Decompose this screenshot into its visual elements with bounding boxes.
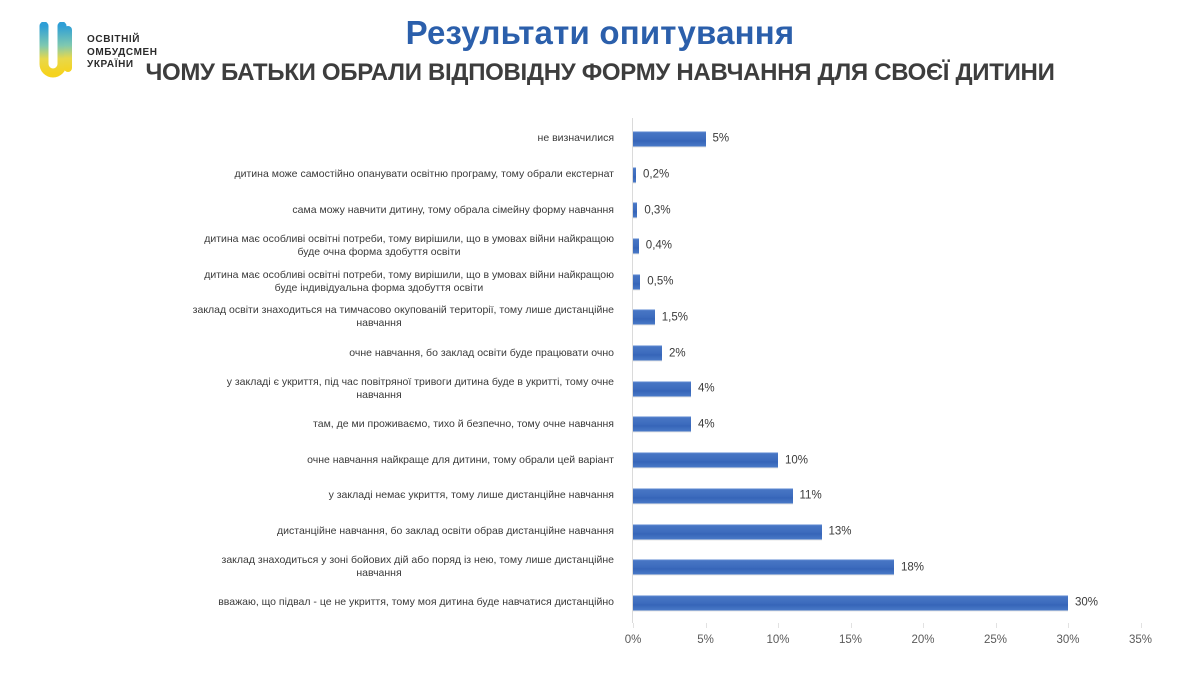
bar[interactable] — [633, 595, 1068, 610]
bar-group[interactable]: 18% — [633, 560, 924, 575]
bar[interactable] — [633, 381, 691, 396]
chart-row: сама можу навчити дитину, тому обрала сі… — [0, 192, 1200, 228]
x-tick-mark — [633, 623, 634, 628]
category-label: там, де ми проживаємо, тихо й безпечно, … — [144, 418, 614, 431]
bar-value-label: 1,5% — [662, 311, 688, 323]
bar-group[interactable]: 0,3% — [633, 203, 671, 218]
plot-area: не визначилися5%дитина може самостійно о… — [0, 118, 1200, 623]
bar[interactable] — [633, 453, 778, 468]
category-label-line: у закладі є укриття, під час повітряної … — [144, 376, 614, 389]
title-block: Результати опитування ЧОМУ БАТЬКИ ОБРАЛИ… — [0, 0, 1200, 85]
category-label: дитина може самостійно опанувати освітню… — [144, 168, 614, 181]
x-tick-label: 0% — [625, 634, 642, 646]
category-label: сама можу навчити дитину, тому обрала сі… — [144, 204, 614, 217]
bar-group[interactable]: 1,5% — [633, 310, 688, 325]
x-tick-mark — [706, 623, 707, 628]
bar-value-label: 10% — [785, 454, 808, 466]
chart-row: дитина може самостійно опанувати освітню… — [0, 157, 1200, 193]
category-label: не визначилися — [144, 132, 614, 145]
chart-row: дитина має особливі освітні потреби, том… — [0, 228, 1200, 264]
chart-row: очне навчання, бо заклад освіти буде пра… — [0, 335, 1200, 371]
bar-group[interactable]: 30% — [633, 595, 1098, 610]
x-tick-label: 10% — [766, 634, 789, 646]
bar-value-label: 4% — [698, 383, 715, 395]
chart-row: у закладі є укриття, під час повітряної … — [0, 371, 1200, 407]
category-label-line: заклад освіти знаходиться на тимчасово о… — [144, 304, 614, 317]
bar[interactable] — [633, 274, 640, 289]
page-title: Результати опитування — [0, 16, 1200, 51]
chart-row: там, де ми проживаємо, тихо й безпечно, … — [0, 407, 1200, 443]
category-label-line: заклад знаходиться у зоні бойових дій аб… — [144, 554, 614, 567]
bar[interactable] — [633, 417, 691, 432]
category-label-line: буде індивідуальна форма здобуття освіти — [144, 282, 614, 295]
x-tick-label: 35% — [1129, 634, 1152, 646]
bar-group[interactable]: 13% — [633, 524, 852, 539]
category-label: заклад освіти знаходиться на тимчасово о… — [144, 304, 614, 330]
category-label: очне навчання, бо заклад освіти буде пра… — [144, 347, 614, 360]
category-label: вважаю, що підвал - це не укриття, тому … — [144, 596, 614, 609]
x-tick-mark — [923, 623, 924, 628]
bar-value-label: 0,5% — [647, 276, 673, 288]
category-label: заклад знаходиться у зоні бойових дій аб… — [144, 554, 614, 580]
category-label: дистанційне навчання, бо заклад освіти о… — [144, 525, 614, 538]
x-tick-label: 30% — [1056, 634, 1079, 646]
bar[interactable] — [633, 203, 637, 218]
bar[interactable] — [633, 238, 639, 253]
bar-value-label: 11% — [800, 490, 822, 502]
bar-value-label: 0,4% — [646, 240, 672, 252]
bar[interactable] — [633, 488, 793, 503]
x-tick-mark — [778, 623, 779, 628]
chart-row: заклад освіти знаходиться на тимчасово о… — [0, 300, 1200, 336]
chart-row: очне навчання найкраще для дитини, тому … — [0, 442, 1200, 478]
bar-value-label: 0,2% — [643, 169, 669, 181]
bar-group[interactable]: 0,4% — [633, 238, 672, 253]
bar[interactable] — [633, 346, 662, 361]
bar-group[interactable]: 10% — [633, 453, 808, 468]
bar[interactable] — [633, 310, 655, 325]
category-label-line: навчання — [144, 317, 614, 330]
bar-value-label: 5% — [713, 133, 730, 145]
chart-row: дитина має особливі освітні потреби, том… — [0, 264, 1200, 300]
category-label: дитина має особливі освітні потреби, том… — [144, 233, 614, 259]
bar-value-label: 2% — [669, 347, 686, 359]
x-tick-label: 20% — [911, 634, 934, 646]
bar-chart: не визначилися5%дитина може самостійно о… — [0, 118, 1200, 658]
chart-row: вважаю, що підвал - це не укриття, тому … — [0, 585, 1200, 621]
x-tick-label: 25% — [984, 634, 1007, 646]
chart-row: заклад знаходиться у зоні бойових дій аб… — [0, 549, 1200, 585]
chart-row: у закладі немає укриття, тому лише диста… — [0, 478, 1200, 514]
category-label-line: буде очна форма здобуття освіти — [144, 246, 614, 259]
bar-group[interactable]: 5% — [633, 131, 729, 146]
x-tick-mark — [996, 623, 997, 628]
bar-group[interactable]: 0,5% — [633, 274, 673, 289]
bar-value-label: 13% — [829, 526, 852, 538]
page-subtitle: ЧОМУ БАТЬКИ ОБРАЛИ ВІДПОВІДНУ ФОРМУ НАВЧ… — [0, 60, 1200, 85]
bar[interactable] — [633, 167, 636, 182]
category-label-line: навчання — [144, 567, 614, 580]
x-axis: 0%5%10%15%20%25%30%35% — [0, 623, 1200, 658]
bar-value-label: 0,3% — [644, 204, 670, 216]
bar-group[interactable]: 0,2% — [633, 167, 669, 182]
bar[interactable] — [633, 131, 706, 146]
x-tick-label: 15% — [839, 634, 862, 646]
bar-value-label: 30% — [1075, 597, 1098, 609]
category-label-line: дитина має особливі освітні потреби, том… — [144, 233, 614, 246]
page-header: ОСВІТНІЙ ОМБУДСМЕН УКРАЇНИ Результати оп… — [0, 0, 1200, 112]
category-label: дитина має особливі освітні потреби, том… — [144, 269, 614, 295]
x-tick-mark — [851, 623, 852, 628]
category-label: очне навчання найкраще для дитини, тому … — [144, 454, 614, 467]
x-tick-mark — [1068, 623, 1069, 628]
bar-group[interactable]: 4% — [633, 417, 715, 432]
chart-row: не визначилися5% — [0, 121, 1200, 157]
chart-row: дистанційне навчання, бо заклад освіти о… — [0, 514, 1200, 550]
category-label-line: навчання — [144, 389, 614, 402]
bar-group[interactable]: 2% — [633, 346, 686, 361]
category-label-line: дитина має особливі освітні потреби, том… — [144, 269, 614, 282]
category-label: у закладі немає укриття, тому лише диста… — [144, 489, 614, 502]
bar[interactable] — [633, 560, 894, 575]
bar-group[interactable]: 11% — [633, 488, 822, 503]
bar-value-label: 4% — [698, 418, 715, 430]
bar-group[interactable]: 4% — [633, 381, 715, 396]
x-tick-mark — [1141, 623, 1142, 628]
category-label: у закладі є укриття, під час повітряної … — [144, 376, 614, 402]
bar-value-label: 18% — [901, 561, 924, 573]
x-tick-label: 5% — [697, 634, 714, 646]
bar[interactable] — [633, 524, 822, 539]
